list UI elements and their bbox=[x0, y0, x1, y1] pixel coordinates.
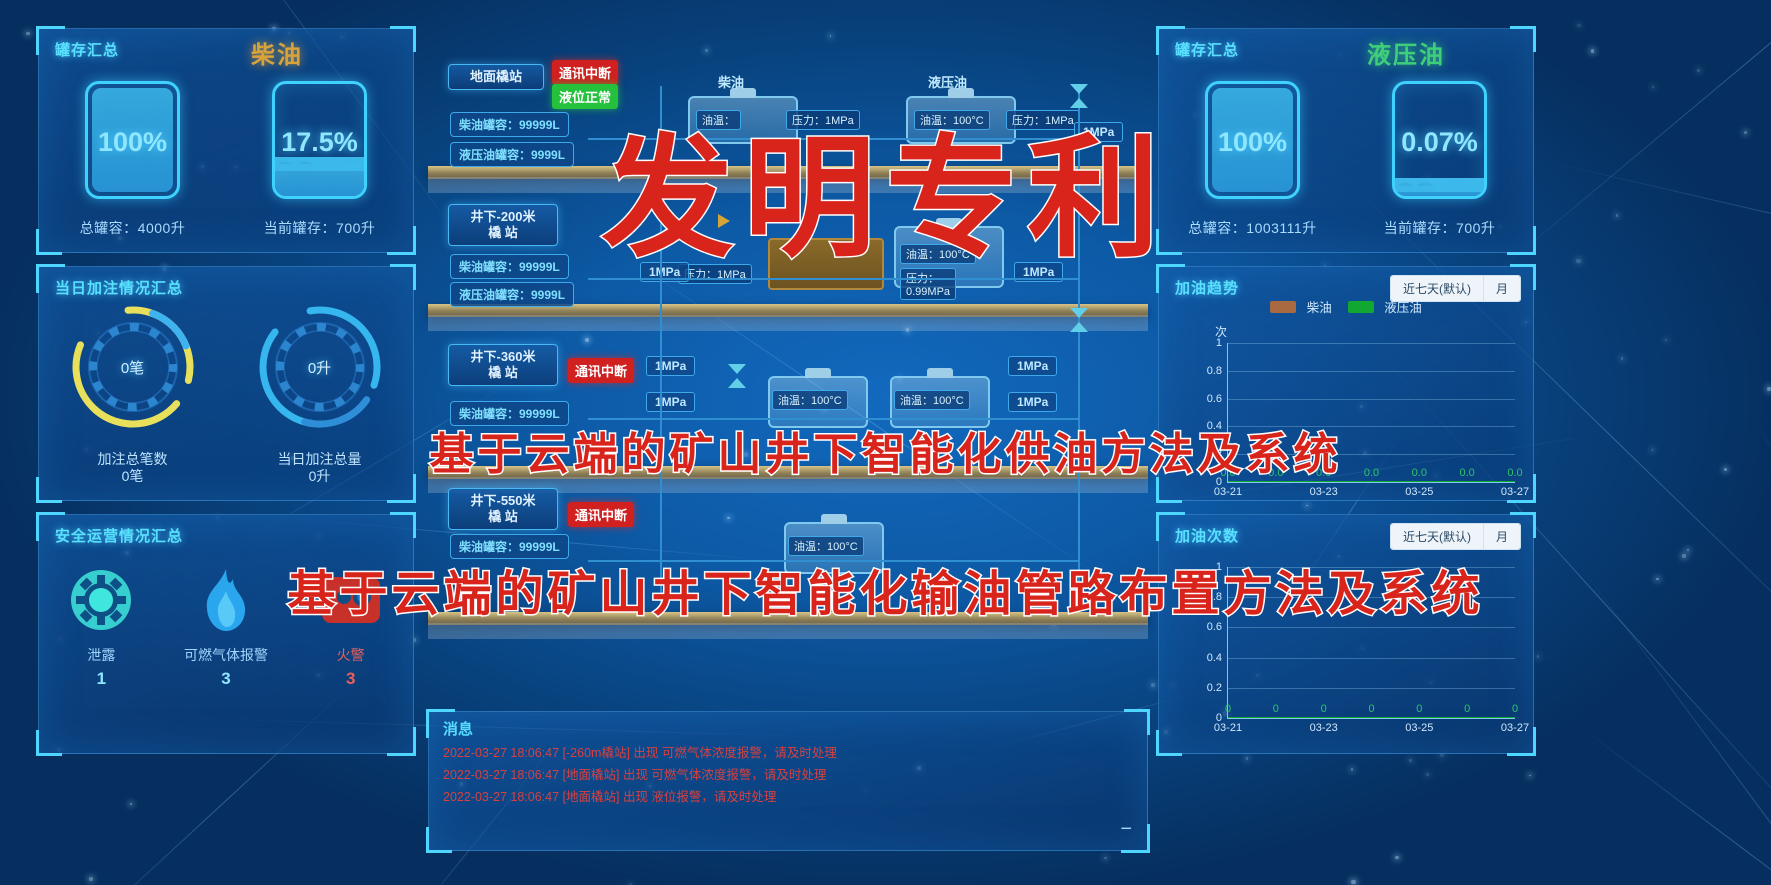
message-log-item: 2022-03-27 18:06:47 [-260m橇站] 出现 可燃气体浓度报… bbox=[443, 742, 1137, 764]
vessel-label-l550-temp: 油温：100°C bbox=[788, 536, 864, 556]
mpa-tag-3: 1MPa bbox=[646, 356, 695, 376]
panel-title-diesel-summary: 罐存汇总 bbox=[55, 39, 119, 60]
mpa-tag-5: 1MPa bbox=[646, 392, 695, 412]
safety-count-gas: 3 bbox=[221, 669, 230, 689]
legend-item-diesel[interactable]: 柴油 bbox=[1270, 297, 1331, 316]
station-tag-level200[interactable]: 井下-200米 橇 站 bbox=[448, 204, 558, 246]
panel-title-hydraulic-summary: 罐存汇总 bbox=[1175, 39, 1239, 60]
watermark-patent-line2: 基于云端的矿山井下智能化输油管路布置方法及系统 bbox=[287, 554, 1483, 624]
chart-x-tick: 03-21 bbox=[1214, 722, 1242, 734]
chart-x-tick: 03-27 bbox=[1501, 722, 1529, 734]
chart-point-label: 0 bbox=[1225, 703, 1231, 715]
chart-y-tick: 0.2 bbox=[1207, 682, 1222, 694]
caption-total-capacity: 总罐容：4000升 bbox=[39, 218, 226, 238]
chart-x-tick: 03-23 bbox=[1310, 722, 1338, 734]
watermark-patent-line1: 基于云端的矿山井下智能化供油方法及系统 bbox=[430, 418, 1342, 482]
valve-5[interactable] bbox=[728, 364, 746, 374]
station-cap-surface-diesel: 柴油罐容：99999L bbox=[450, 112, 569, 137]
hydraulic-tank-gauges: 100% 0.07% bbox=[1159, 81, 1533, 211]
chart-point-label: 0.0 bbox=[1507, 467, 1522, 479]
station-tag-level550[interactable]: 井下-550米 橇 站 bbox=[448, 488, 558, 530]
ring-label-volume-line2: 0升 bbox=[226, 468, 413, 485]
mpa-tag-4: 1MPa bbox=[1008, 356, 1057, 376]
panel-message-log: 消息 2022-03-27 18:06:47 [-260m橇站] 出现 可燃气体… bbox=[428, 711, 1148, 851]
safety-label-fire: 火警 bbox=[337, 645, 365, 665]
range-button-seven-days-count[interactable]: 近七天(默认) bbox=[1391, 524, 1483, 549]
dashboard-frame: 罐存汇总 柴油 100% 17.5% bbox=[0, 0, 1771, 885]
ring-label-count-line1: 加注总笔数 bbox=[39, 451, 226, 468]
tank-fill-h-current bbox=[1395, 186, 1484, 196]
diesel-tank-captions: 总罐容：4000升 当前罐存：700升 bbox=[39, 218, 413, 238]
message-log-item: 2022-03-27 18:06:47 [地面橇站] 出现 可燃气体浓度报警，请… bbox=[443, 764, 1137, 786]
chart-point-label: 0.0 bbox=[1412, 467, 1427, 479]
panel-title-safety: 安全运营情况汇总 bbox=[55, 525, 183, 546]
dashboard-screen: 罐存汇总 柴油 100% 17.5% bbox=[28, 14, 1743, 871]
chart-point-label: 0 bbox=[1321, 703, 1327, 715]
station-cap-surface-hydraulic: 液压油罐容：9999L bbox=[450, 142, 574, 167]
ring-gauge-volume: 0升 当日加注总量 0升 bbox=[226, 303, 413, 443]
chart-point-label: 0 bbox=[1273, 703, 1279, 715]
panel-title-refuel-count: 加油次数 bbox=[1175, 525, 1239, 546]
legend-label-hydraulic: 液压油 bbox=[1384, 301, 1422, 315]
ring-gauge-count: 0笔 加注总笔数 0笔 bbox=[39, 303, 226, 443]
chart-x-tick: 03-23 bbox=[1310, 486, 1338, 498]
chart-y-tick: 0.8 bbox=[1207, 365, 1222, 377]
panel-subtitle-diesel: 柴油 bbox=[251, 35, 303, 70]
chart-gridline bbox=[1228, 482, 1515, 483]
safety-count-fire: 3 bbox=[346, 669, 355, 689]
station-tag-level360[interactable]: 井下-360米 橇 站 bbox=[448, 344, 558, 386]
station-badge-surface-comm: 通讯中断 bbox=[552, 60, 618, 85]
chart-y-tick: 1 bbox=[1216, 337, 1222, 349]
chart-y-tick: 0.6 bbox=[1207, 393, 1222, 405]
tank-percent-current: 17.5% bbox=[275, 127, 364, 158]
ring-label-volume: 当日加注总量 0升 bbox=[226, 451, 413, 485]
station-cap-level200-hydraulic: 液压油罐容：9999L bbox=[450, 282, 574, 307]
watermark-patent-title: 发明专利 bbox=[602, 92, 1170, 283]
tank-percent-h-current: 0.07% bbox=[1395, 127, 1484, 158]
safety-item-gas[interactable]: 可燃气体报警 3 bbox=[164, 563, 289, 713]
tank-wave-current bbox=[275, 157, 364, 171]
diesel-current-gauge: 17.5% bbox=[226, 81, 413, 211]
valve-3[interactable] bbox=[1070, 308, 1088, 318]
legend-swatch-hydraulic bbox=[1348, 301, 1374, 313]
panel-hydraulic-tank-summary: 罐存汇总 液压油 100% 0.07% bbox=[1158, 28, 1534, 253]
ring-shape-count: 0笔 bbox=[69, 303, 197, 431]
caption-h-total-capacity: 总罐容：1003111升 bbox=[1159, 218, 1346, 238]
message-log-list[interactable]: 2022-03-27 18:06:47 [-260m橇站] 出现 可燃气体浓度报… bbox=[443, 742, 1137, 808]
tank-shape-h-total: 100% bbox=[1205, 81, 1300, 199]
tank-shape-h-current: 0.07% bbox=[1392, 81, 1487, 199]
tank-percent-total: 100% bbox=[88, 127, 177, 158]
caption-current-stock: 当前罐存：700升 bbox=[226, 218, 413, 238]
diesel-tank-gauges: 100% 17.5% bbox=[39, 81, 413, 211]
caption-h-current-stock: 当前罐存：700升 bbox=[1346, 218, 1533, 238]
station-badge-level360-comm: 通讯中断 bbox=[568, 358, 634, 383]
station-tag-surface[interactable]: 地面橇站 bbox=[448, 64, 544, 90]
safety-count-leak: 1 bbox=[97, 669, 106, 689]
chart-legend-trend[interactable]: 柴油 液压油 bbox=[1159, 297, 1533, 316]
hydraulic-total-gauge: 100% bbox=[1159, 81, 1346, 211]
ring-label-count-line2: 0笔 bbox=[39, 468, 226, 485]
valve-6[interactable] bbox=[728, 378, 746, 388]
safety-item-leak[interactable]: 泄露 1 bbox=[39, 563, 164, 713]
vessel-title-diesel: 柴油 bbox=[718, 72, 744, 91]
tank-shape-total: 100% bbox=[85, 81, 180, 199]
ring-shape-volume: 0升 bbox=[256, 303, 384, 431]
panel-subtitle-hydraulic: 液压油 bbox=[1367, 35, 1445, 70]
message-log-item: 2022-03-27 18:06:47 [地面橇站] 出现 液位报警，请及时处理 bbox=[443, 786, 1137, 808]
vessel-label-l360-temp: 油温：100°C bbox=[772, 390, 848, 410]
panel-title-daily-refuel: 当日加注情况汇总 bbox=[55, 277, 183, 298]
panel-title-refuel-trend: 加油趋势 bbox=[1175, 277, 1239, 298]
chart-x-tick: 03-27 bbox=[1501, 486, 1529, 498]
panel-daily-refuel-summary: 当日加注情况汇总 0笔 bbox=[38, 266, 414, 501]
panel-diesel-tank-summary: 罐存汇总 柴油 100% 17.5% bbox=[38, 28, 414, 253]
ring-value-count: 0笔 bbox=[69, 303, 197, 431]
range-selector-count[interactable]: 近七天(默认) 月 bbox=[1390, 523, 1521, 550]
hydraulic-tank-captions: 总罐容：1003111升 当前罐存：700升 bbox=[1159, 218, 1533, 238]
ring-label-count: 加注总笔数 0笔 bbox=[39, 451, 226, 485]
refuel-ring-gauges: 0笔 加注总笔数 0笔 bbox=[39, 303, 413, 443]
chart-point-label: 0 bbox=[1512, 703, 1518, 715]
mpa-tag-6: 1MPa bbox=[1008, 392, 1057, 412]
diesel-total-gauge: 100% bbox=[39, 81, 226, 211]
chart-y-tick: 0.4 bbox=[1207, 652, 1222, 664]
safety-label-gas: 可燃气体报警 bbox=[184, 645, 268, 665]
chart-point-label: 0 bbox=[1368, 703, 1374, 715]
ring-value-volume: 0升 bbox=[256, 303, 384, 431]
legend-swatch-diesel bbox=[1270, 301, 1296, 313]
chart-x-tick: 03-25 bbox=[1405, 722, 1433, 734]
chart-x-tick: 03-21 bbox=[1214, 486, 1242, 498]
panel-safety-summary: 安全运营情况汇总 bbox=[38, 514, 414, 754]
chart-gridline bbox=[1228, 718, 1515, 719]
chart-point-label: 0 bbox=[1464, 703, 1470, 715]
valve-4[interactable] bbox=[1070, 322, 1088, 332]
vessel-label-l360-h-temp: 油温：100°C bbox=[894, 390, 970, 410]
chart-point-label: 0.0 bbox=[1364, 467, 1379, 479]
safety-label-leak: 泄露 bbox=[87, 645, 115, 665]
flame-icon bbox=[189, 563, 263, 637]
tank-percent-h-total: 100% bbox=[1208, 127, 1297, 158]
leak-icon bbox=[64, 563, 138, 637]
ring-label-volume-line1: 当日加注总量 bbox=[226, 451, 413, 468]
tank-wave-h-current bbox=[1395, 178, 1484, 192]
legend-label-diesel: 柴油 bbox=[1307, 301, 1332, 315]
station-badge-level550-comm: 通讯中断 bbox=[568, 502, 634, 527]
collapse-icon[interactable]: − bbox=[1120, 818, 1132, 841]
legend-item-hydraulic[interactable]: 液压油 bbox=[1348, 297, 1422, 316]
panel-refuel-count-chart: 加油次数 近七天(默认) 月 00.20.40.60.8103-2103-230… bbox=[1158, 514, 1534, 754]
message-log-title: 消息 bbox=[443, 718, 473, 739]
hydraulic-current-gauge: 0.07% bbox=[1346, 81, 1533, 211]
tank-fill-current bbox=[275, 164, 364, 196]
chart-x-tick: 03-25 bbox=[1405, 486, 1433, 498]
vessel-title-hydraulic: 液压油 bbox=[928, 72, 967, 91]
range-button-month-count[interactable]: 月 bbox=[1483, 524, 1520, 549]
station-cap-level200-diesel: 柴油罐容：99999L bbox=[450, 254, 569, 279]
chart-point-label: 0.0 bbox=[1460, 467, 1475, 479]
tank-shape-current: 17.5% bbox=[272, 81, 367, 199]
chart-point-label: 0 bbox=[1416, 703, 1422, 715]
